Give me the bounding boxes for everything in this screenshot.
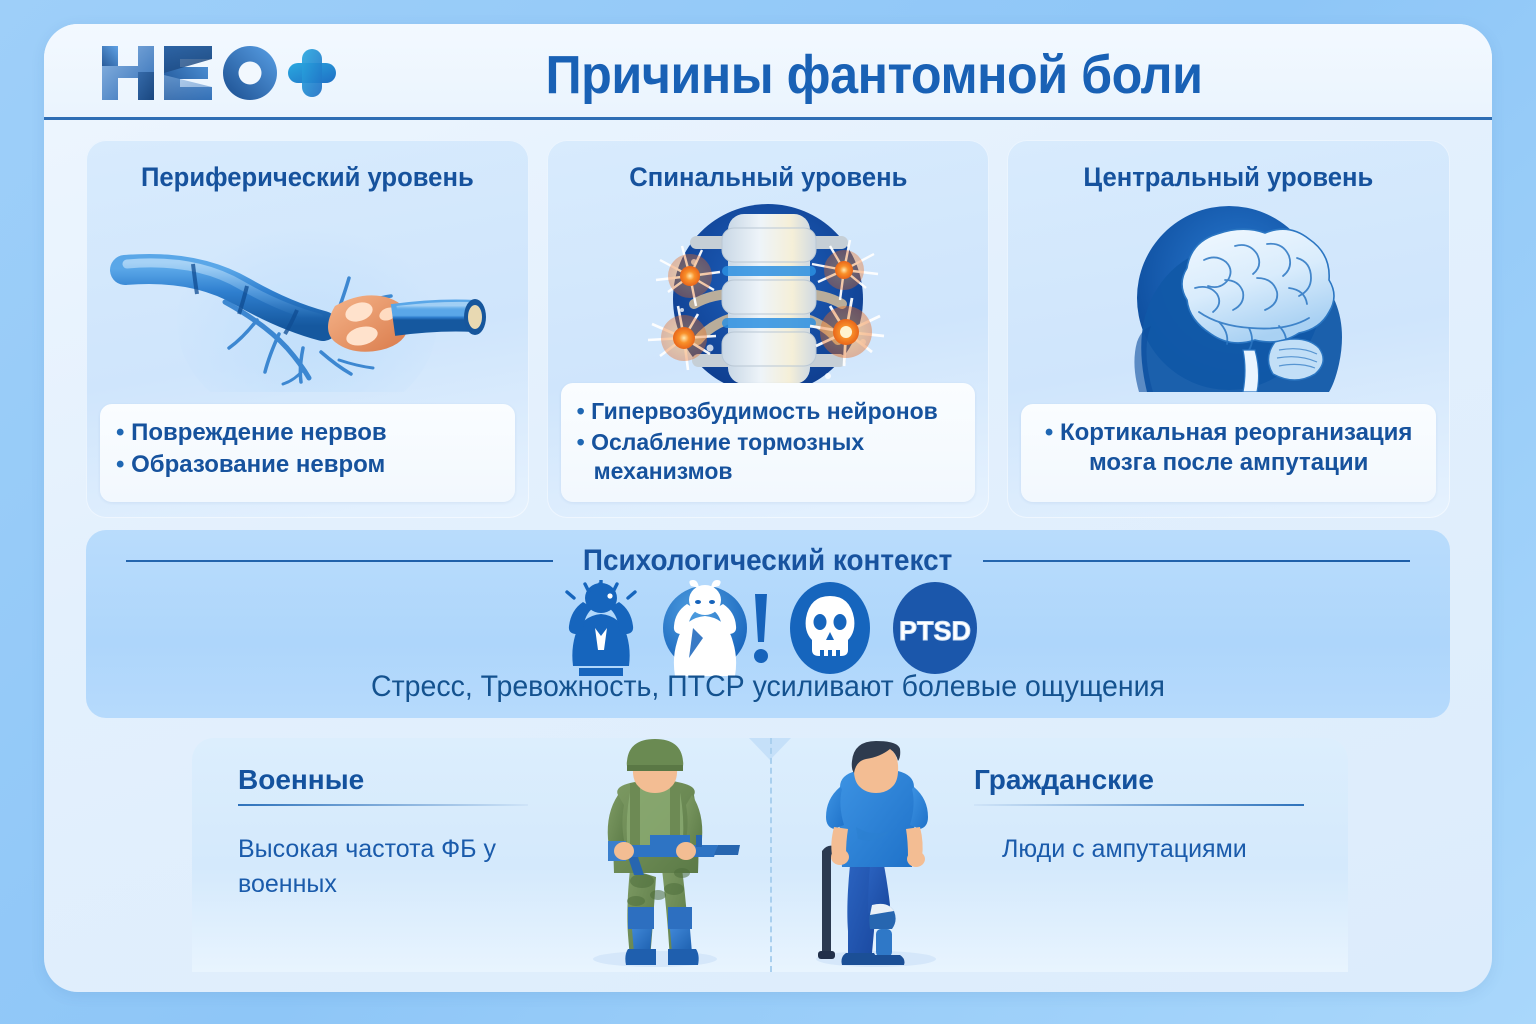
main-panel: Причины фантомной боли Периферический ур… bbox=[44, 24, 1492, 992]
level-card-peripheral[interactable]: Периферический уровень bbox=[86, 140, 529, 518]
brand-logo bbox=[98, 40, 338, 106]
group-rule bbox=[238, 804, 528, 806]
ptsd-badge-icon: PTSD bbox=[889, 580, 981, 676]
bullet-item: Повреждение нервов bbox=[116, 418, 499, 448]
civilian-illustration bbox=[784, 739, 964, 972]
nerve-damage-illustration bbox=[86, 202, 529, 392]
rule-right bbox=[983, 560, 1410, 562]
neo-plus-logo-icon bbox=[98, 40, 338, 106]
page-title: Причины фантомной боли bbox=[409, 36, 1339, 114]
stressed-person-icon bbox=[555, 580, 647, 676]
ptsd-label: PTSD bbox=[899, 616, 971, 646]
bullet-item: Кортикальная реорганизация мозга после а… bbox=[1037, 418, 1420, 478]
exclamation-mark bbox=[754, 594, 768, 663]
group-civilian[interactable]: Гражданские Люди с ампутациями bbox=[770, 738, 1348, 972]
cane bbox=[818, 846, 836, 959]
group-description-military: Высокая частота ФБ у военных bbox=[238, 832, 528, 901]
psychological-context-section: Психологический контекст bbox=[86, 530, 1450, 718]
group-title-military: Военные bbox=[238, 764, 528, 796]
brain-illustration bbox=[1007, 202, 1450, 392]
population-groups-section: Военные Высокая частота ФБ у военных bbox=[192, 738, 1348, 972]
level-title-spinal: Спинальный уровень bbox=[558, 162, 979, 193]
spinal-neurons-illustration bbox=[547, 202, 990, 392]
levels-row: Периферический уровень bbox=[86, 140, 1450, 518]
bullet-item: Гипервозбудимость нейронов bbox=[577, 397, 960, 426]
group-military[interactable]: Военные Высокая частота ФБ у военных bbox=[192, 738, 770, 972]
skull-icon bbox=[787, 580, 873, 676]
soldier-illustration bbox=[550, 739, 760, 972]
header-bar: Причины фантомной боли bbox=[44, 24, 1492, 120]
group-description-civilian: Люди с ампутациями bbox=[974, 832, 1304, 867]
level-card-central[interactable]: Центральный уровень bbox=[1007, 140, 1450, 518]
anxious-person-exclamation-icon bbox=[663, 580, 771, 676]
bullet-item: Ослабление тормозных механизмов bbox=[577, 428, 960, 486]
psychological-icons: PTSD bbox=[86, 580, 1450, 676]
group-rule bbox=[974, 804, 1304, 806]
bullets-central: Кортикальная реорганизация мозга после а… bbox=[1021, 404, 1436, 502]
bullets-spinal: Гипервозбудимость нейронов Ослабление то… bbox=[561, 383, 976, 502]
group-title-civilian: Гражданские bbox=[974, 764, 1304, 796]
bullets-peripheral: Повреждение нервов Образование невром bbox=[100, 404, 515, 502]
level-card-spinal[interactable]: Спинальный уровень bbox=[547, 140, 990, 518]
infographic-root: Причины фантомной боли Периферический ур… bbox=[0, 0, 1536, 1024]
level-title-peripheral: Периферический уровень bbox=[97, 162, 518, 193]
psychological-title: Психологический контекст bbox=[583, 544, 952, 578]
level-title-central: Центральный уровень bbox=[1018, 162, 1439, 193]
rule-left bbox=[126, 560, 553, 562]
psychological-header: Психологический контекст bbox=[86, 544, 1450, 578]
bullet-item: Образование невром bbox=[116, 450, 499, 480]
psychological-caption: Стресс, Тревожность, ПТСР усиливают боле… bbox=[120, 670, 1416, 704]
